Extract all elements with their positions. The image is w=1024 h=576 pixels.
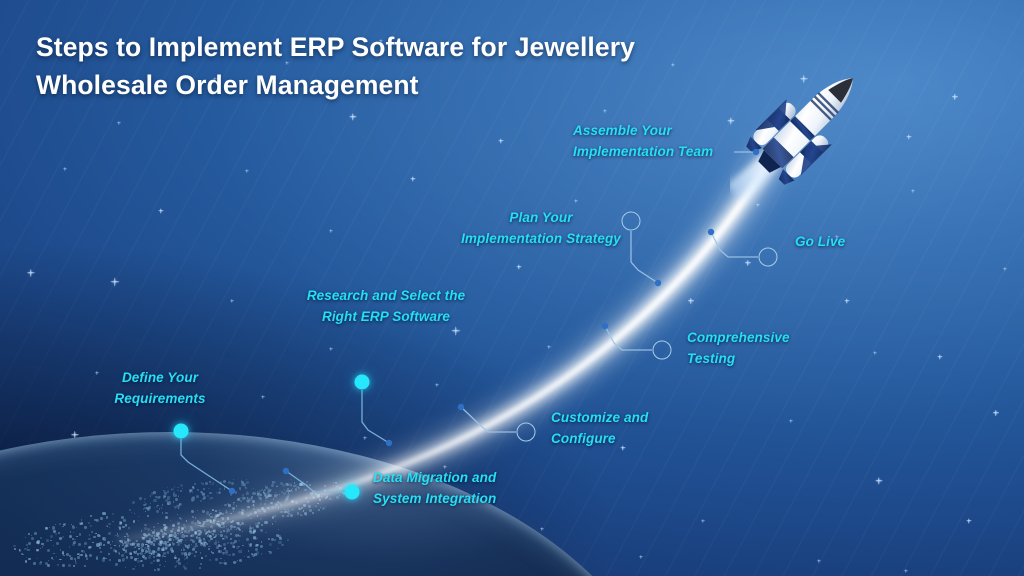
- step-label-5: Customize andConfigure: [551, 408, 681, 449]
- page-title-line-2: Wholesale Order Management: [36, 66, 736, 104]
- step-marker-6: [653, 341, 672, 360]
- step-label-1: Define YourRequirements: [104, 368, 216, 409]
- step-label-line-2: Requirements: [104, 389, 216, 410]
- step-label-line-1: Customize and: [551, 408, 681, 429]
- step-marker-3: [345, 485, 360, 500]
- step-label-line-2: Implementation Team: [573, 142, 733, 163]
- step-label-line-1: Assemble Your: [573, 121, 733, 142]
- step-label-line-1: Define Your: [104, 368, 216, 389]
- step-label-line-2: Configure: [551, 429, 681, 450]
- page-title: Steps to Implement ERP Software for Jewe…: [36, 28, 736, 104]
- step-label-line-1: Data Migration and: [373, 468, 523, 489]
- step-label-line-1: Go Live: [795, 232, 865, 253]
- step-marker-1: [174, 424, 189, 439]
- step-label-4: Plan YourImplementation Strategy: [452, 208, 630, 249]
- step-label-line-2: Implementation Strategy: [452, 229, 630, 250]
- step-label-6: ComprehensiveTesting: [687, 328, 817, 369]
- step-label-line-2: Right ERP Software: [296, 307, 476, 328]
- step-label-line-1: Research and Select the: [296, 286, 476, 307]
- step-marker-2: [355, 375, 370, 390]
- step-label-3: Data Migration andSystem Integration: [373, 468, 523, 509]
- infographic-slide: Steps to Implement ERP Software for Jewe…: [0, 0, 1024, 576]
- step-label-line-1: Plan Your: [452, 208, 630, 229]
- step-label-2: Research and Select theRight ERP Softwar…: [296, 286, 476, 327]
- step-label-line-2: Testing: [687, 349, 817, 370]
- step-label-7: Assemble YourImplementation Team: [573, 121, 733, 162]
- step-label-8: Go Live: [795, 232, 865, 253]
- step-label-line-1: Comprehensive: [687, 328, 817, 349]
- step-marker-5: [517, 423, 536, 442]
- step-marker-8: [759, 248, 778, 267]
- step-label-line-2: System Integration: [373, 489, 523, 510]
- page-title-line-1: Steps to Implement ERP Software for Jewe…: [36, 28, 736, 66]
